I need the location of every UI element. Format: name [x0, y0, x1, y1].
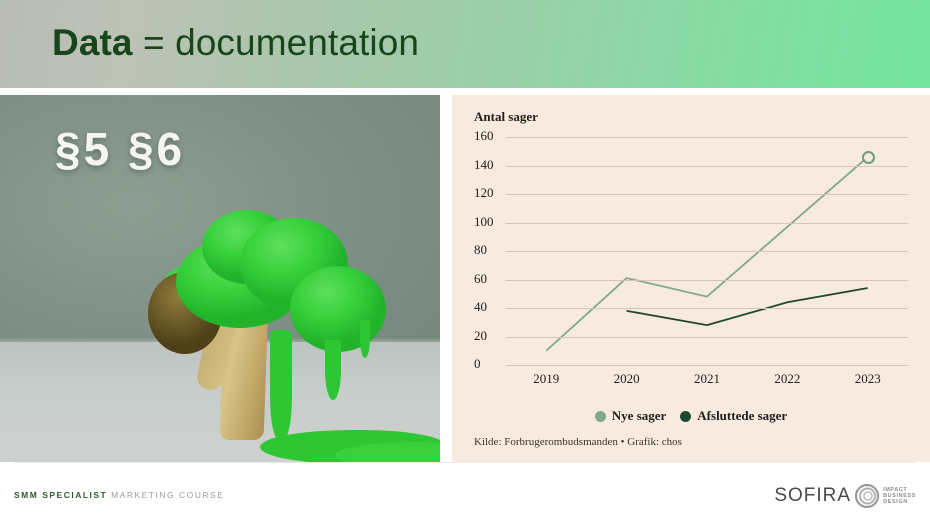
- chart-gridline: [506, 223, 908, 224]
- chart-x-tick-label: 2022: [774, 371, 800, 387]
- spiral-logo-icon: [855, 484, 879, 508]
- chart-series-line: [627, 288, 868, 325]
- chart-x-tick-label: 2023: [855, 371, 881, 387]
- chart-legend: Nye sagerAfsluttede sager: [452, 408, 930, 424]
- course-brand-muted: MARKETING COURSE: [107, 490, 224, 500]
- chart-y-tick-label: 80: [474, 242, 504, 258]
- chart-title: Antal sager: [474, 109, 538, 125]
- legend-label: Afsluttede sager: [697, 408, 787, 424]
- chart-gridline: [506, 308, 908, 309]
- course-brand: SMM SPECIALIST MARKETING COURSE: [14, 490, 224, 500]
- footer-divider: [14, 462, 916, 463]
- page-title-emphasis: Data: [52, 22, 133, 63]
- chart-y-tick-label: 20: [474, 328, 504, 344]
- header-divider: [0, 88, 930, 95]
- legend-dot-icon: [595, 411, 606, 422]
- chart-y-tick-label: 0: [474, 356, 504, 372]
- paintbrush-icon: [427, 169, 440, 332]
- chart-panel: Antal sager 020406080100120140160 201920…: [452, 95, 930, 462]
- chart-gridline: [506, 280, 908, 281]
- paint-drip-3: [360, 320, 370, 358]
- chart-gridline: [506, 137, 908, 138]
- chart-gridline: [506, 166, 908, 167]
- broccoli-photo: §5 §6: [0, 95, 440, 462]
- page-title: Data = documentation: [52, 22, 419, 64]
- chart-y-tick-label: 60: [474, 271, 504, 287]
- chart-gridline: [506, 194, 908, 195]
- paint-drip-2: [325, 340, 341, 400]
- legend-dot-icon: [680, 411, 691, 422]
- chart-x-axis: 20192020202120222023: [474, 371, 908, 391]
- slide-header: Data = documentation: [0, 0, 930, 88]
- chart-y-tick-label: 160: [474, 128, 504, 144]
- legend-item[interactable]: Afsluttede sager: [680, 408, 787, 424]
- paint-drip-1: [270, 330, 292, 440]
- chart-x-tick-label: 2019: [533, 371, 559, 387]
- chart-y-tick-label: 140: [474, 157, 504, 173]
- logo-tagline: IMPACT BUSINESS DESIGN: [883, 487, 916, 506]
- chart-gridline: [506, 365, 908, 366]
- chart-highlight-point[interactable]: [862, 151, 875, 164]
- sofira-logo: SOFIRA IMPACT BUSINESS DESIGN: [774, 484, 916, 508]
- chart-plot-area: 020406080100120140160: [474, 137, 908, 365]
- chart-y-tick-label: 120: [474, 185, 504, 201]
- logo-tagline-3: DESIGN: [883, 499, 916, 505]
- photo-overlay-text: §5 §6: [55, 122, 185, 176]
- course-brand-strong: SMM SPECIALIST: [14, 490, 107, 500]
- chart-x-tick-label: 2021: [694, 371, 720, 387]
- chart-source-note: Kilde: Forbrugerombudsmanden • Grafik: c…: [474, 436, 682, 448]
- legend-label: Nye sager: [612, 408, 667, 424]
- legend-item[interactable]: Nye sager: [595, 408, 667, 424]
- chart-x-tick-label: 2020: [614, 371, 640, 387]
- page-title-rest: = documentation: [133, 22, 420, 63]
- broccoli-illustration: [150, 180, 410, 440]
- chart-y-tick-label: 100: [474, 214, 504, 230]
- chart-gridline: [506, 337, 908, 338]
- slide-footer: SMM SPECIALIST MARKETING COURSE SOFIRA I…: [0, 462, 930, 522]
- chart-gridline: [506, 251, 908, 252]
- chart-series-line: [546, 157, 868, 351]
- logo-wordmark: SOFIRA: [774, 485, 851, 507]
- chart-y-tick-label: 40: [474, 299, 504, 315]
